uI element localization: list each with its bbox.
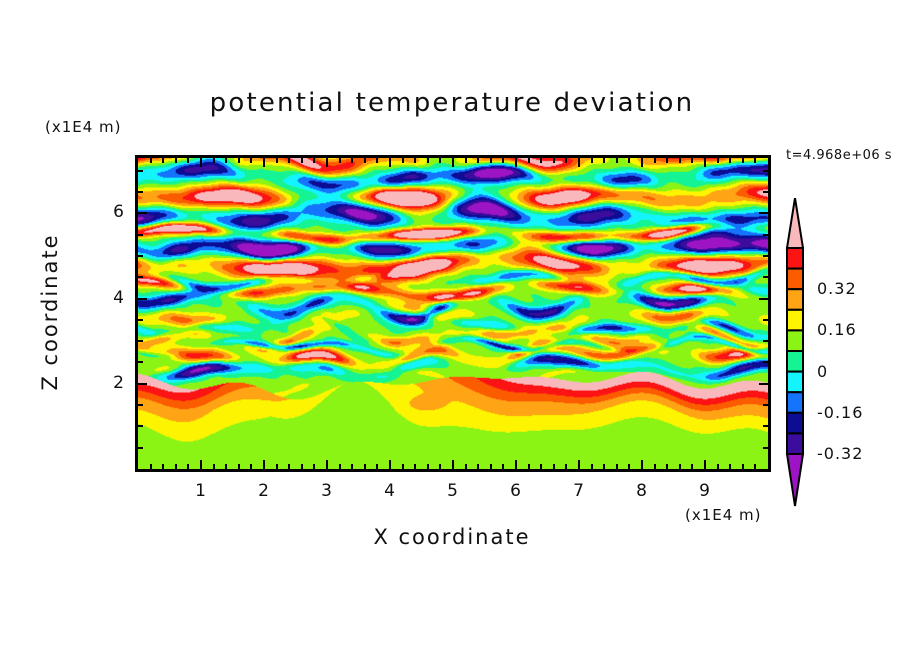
x-axis-tick-label: 6 bbox=[496, 481, 536, 501]
colorbar-band bbox=[787, 413, 803, 434]
x-axis-minor-tick bbox=[666, 464, 668, 469]
x-axis-minor-tick-top bbox=[427, 158, 429, 163]
x-axis-minor-tick-top bbox=[654, 158, 656, 163]
x-axis-major-tick bbox=[200, 460, 202, 469]
x-axis-major-tick-top bbox=[263, 158, 265, 167]
x-axis-minor-tick-top bbox=[490, 158, 492, 163]
y-axis-minor-tick-right bbox=[763, 361, 768, 363]
colorbar-swatches bbox=[775, 198, 815, 508]
x-axis-minor-tick bbox=[691, 464, 693, 469]
x-axis-minor-tick bbox=[742, 464, 744, 469]
x-axis-minor-tick-top bbox=[364, 158, 366, 163]
x-axis-minor-tick bbox=[654, 464, 656, 469]
x-axis-minor-tick-top bbox=[162, 158, 164, 163]
colorbar-tick-label: 0.32 bbox=[817, 279, 857, 298]
x-axis-minor-tick-top bbox=[603, 158, 605, 163]
x-axis-minor-tick-top bbox=[175, 158, 177, 163]
x-axis-minor-tick-top bbox=[754, 158, 756, 163]
y-axis-major-tick-right bbox=[759, 383, 768, 385]
colorbar bbox=[775, 198, 815, 508]
x-axis-minor-tick bbox=[213, 464, 215, 469]
x-axis-minor-tick-top bbox=[540, 158, 542, 163]
time-stamp-label: t=4.968e+06 s bbox=[786, 148, 892, 163]
colorbar-band bbox=[787, 330, 803, 351]
x-axis-minor-tick-top bbox=[717, 158, 719, 163]
x-axis-minor-tick-top bbox=[276, 158, 278, 163]
x-axis-minor-tick bbox=[402, 464, 404, 469]
x-axis-minor-tick-top bbox=[628, 158, 630, 163]
x-axis-major-tick bbox=[326, 460, 328, 469]
x-axis-tick-label: 5 bbox=[433, 481, 473, 501]
x-axis-minor-tick bbox=[376, 464, 378, 469]
colorbar-over-max-arrow bbox=[787, 198, 803, 248]
y-axis-major-tick bbox=[138, 298, 147, 300]
y-axis-minor-tick-right bbox=[763, 255, 768, 257]
y-axis-minor-tick bbox=[138, 361, 143, 363]
x-axis-minor-tick bbox=[603, 464, 605, 469]
x-axis-tick-label: 9 bbox=[685, 481, 725, 501]
x-axis-minor-tick-top bbox=[313, 158, 315, 163]
y-axis-minor-tick bbox=[138, 191, 143, 193]
x-axis-minor-tick bbox=[187, 464, 189, 469]
x-axis-minor-tick bbox=[729, 464, 731, 469]
x-axis-tick-label: 7 bbox=[559, 481, 599, 501]
y-axis-minor-tick-right bbox=[763, 234, 768, 236]
y-axis-minor-tick-right bbox=[763, 340, 768, 342]
x-axis-minor-tick bbox=[565, 464, 567, 469]
contour-plot-area bbox=[135, 155, 771, 472]
x-axis-minor-tick bbox=[250, 464, 252, 469]
x-axis-minor-tick bbox=[225, 464, 227, 469]
x-axis-minor-tick-top bbox=[376, 158, 378, 163]
y-axis-minor-tick bbox=[138, 170, 143, 172]
y-axis-minor-tick-right bbox=[763, 447, 768, 449]
x-axis-minor-tick-top bbox=[150, 158, 152, 163]
x-axis-minor-tick-top bbox=[565, 158, 567, 163]
x-axis-minor-tick bbox=[427, 464, 429, 469]
x-axis-minor-tick-top bbox=[729, 158, 731, 163]
y-axis-minor-tick bbox=[138, 340, 143, 342]
x-axis-minor-tick-top bbox=[477, 158, 479, 163]
x-axis-minor-tick bbox=[591, 464, 593, 469]
colorbar-band bbox=[787, 351, 803, 372]
y-axis-minor-tick bbox=[138, 234, 143, 236]
y-axis-minor-tick-right bbox=[763, 170, 768, 172]
x-axis-minor-tick bbox=[616, 464, 618, 469]
colorbar-band bbox=[787, 372, 803, 393]
x-axis-major-tick bbox=[515, 460, 517, 469]
x-axis-tick-label: 8 bbox=[622, 481, 662, 501]
x-axis-tick-label: 4 bbox=[370, 481, 410, 501]
y-axis-minor-tick bbox=[138, 319, 143, 321]
x-axis-minor-tick-top bbox=[187, 158, 189, 163]
page-title: potential temperature deviation bbox=[0, 88, 904, 118]
x-axis-minor-tick bbox=[628, 464, 630, 469]
y-axis-minor-tick-right bbox=[763, 276, 768, 278]
x-axis-major-tick bbox=[704, 460, 706, 469]
x-axis-minor-tick-top bbox=[691, 158, 693, 163]
x-axis-minor-tick bbox=[754, 464, 756, 469]
x-axis-minor-tick-top bbox=[465, 158, 467, 163]
contour-field-canvas bbox=[138, 158, 768, 469]
colorbar-band bbox=[787, 392, 803, 413]
x-axis-minor-tick bbox=[414, 464, 416, 469]
y-axis-minor-tick-right bbox=[763, 319, 768, 321]
x-axis-minor-tick-top bbox=[288, 158, 290, 163]
colorbar-tick-label: -0.16 bbox=[817, 403, 863, 422]
y-axis-major-tick-right bbox=[759, 212, 768, 214]
x-axis-minor-tick bbox=[540, 464, 542, 469]
x-axis-major-tick bbox=[389, 460, 391, 469]
y-axis-minor-tick-right bbox=[763, 425, 768, 427]
y-axis-minor-tick-right bbox=[763, 404, 768, 406]
x-axis-minor-tick-top bbox=[502, 158, 504, 163]
x-axis-minor-tick bbox=[276, 464, 278, 469]
y-axis-major-tick bbox=[138, 383, 147, 385]
x-axis-minor-tick bbox=[339, 464, 341, 469]
y-axis-tick-label: 4 bbox=[85, 288, 125, 308]
x-axis-minor-tick-top bbox=[351, 158, 353, 163]
colorbar-tick-label: -0.32 bbox=[817, 444, 863, 463]
x-axis-minor-tick bbox=[150, 464, 152, 469]
x-axis-minor-tick bbox=[553, 464, 555, 469]
x-axis-major-tick-top bbox=[326, 158, 328, 167]
x-axis-minor-tick bbox=[288, 464, 290, 469]
colorbar-tick-label: 0 bbox=[817, 362, 828, 381]
x-axis-minor-tick-top bbox=[238, 158, 240, 163]
x-axis-minor-tick-top bbox=[666, 158, 668, 163]
x-axis-minor-tick bbox=[679, 464, 681, 469]
x-axis-minor-tick-top bbox=[528, 158, 530, 163]
x-axis-minor-tick bbox=[502, 464, 504, 469]
z-axis-unit-label: (x1E4 m) bbox=[45, 118, 122, 136]
x-axis-major-tick-top bbox=[641, 158, 643, 167]
y-axis-tick-label: 2 bbox=[85, 373, 125, 393]
y-axis-minor-tick bbox=[138, 447, 143, 449]
colorbar-band bbox=[787, 310, 803, 331]
y-axis-minor-tick bbox=[138, 425, 143, 427]
x-axis-unit-label: (x1E4 m) bbox=[685, 506, 762, 524]
x-axis-major-tick bbox=[578, 460, 580, 469]
x-axis-minor-tick-top bbox=[402, 158, 404, 163]
colorbar-band bbox=[787, 433, 803, 454]
colorbar-under-min-arrow bbox=[787, 454, 803, 506]
x-axis-minor-tick-top bbox=[225, 158, 227, 163]
x-axis-major-tick bbox=[641, 460, 643, 469]
y-axis-tick-label: 6 bbox=[85, 202, 125, 222]
x-axis-minor-tick bbox=[313, 464, 315, 469]
x-axis-minor-tick bbox=[717, 464, 719, 469]
x-axis-tick-label: 1 bbox=[181, 481, 221, 501]
x-axis-minor-tick-top bbox=[553, 158, 555, 163]
colorbar-tick-label: 0.16 bbox=[817, 320, 857, 339]
y-axis-minor-tick bbox=[138, 276, 143, 278]
x-axis-minor-tick bbox=[364, 464, 366, 469]
y-axis-major-tick bbox=[138, 212, 147, 214]
x-axis-tick-label: 3 bbox=[307, 481, 347, 501]
x-axis-minor-tick-top bbox=[591, 158, 593, 163]
x-axis-minor-tick bbox=[238, 464, 240, 469]
x-axis-minor-tick bbox=[175, 464, 177, 469]
x-axis-major-tick bbox=[452, 460, 454, 469]
x-axis-minor-tick-top bbox=[742, 158, 744, 163]
x-axis-minor-tick bbox=[162, 464, 164, 469]
x-axis-minor-tick bbox=[465, 464, 467, 469]
colorbar-band bbox=[787, 289, 803, 310]
x-axis-tick-label: 2 bbox=[244, 481, 284, 501]
x-axis-major-tick-top bbox=[389, 158, 391, 167]
x-axis-major-tick bbox=[263, 460, 265, 469]
x-axis-minor-tick bbox=[439, 464, 441, 469]
x-axis-minor-tick bbox=[490, 464, 492, 469]
y-axis-minor-tick bbox=[138, 255, 143, 257]
x-axis-minor-tick-top bbox=[339, 158, 341, 163]
x-axis-minor-tick-top bbox=[616, 158, 618, 163]
x-axis-major-tick-top bbox=[515, 158, 517, 167]
x-axis-minor-tick-top bbox=[301, 158, 303, 163]
x-axis-major-tick-top bbox=[578, 158, 580, 167]
colorbar-band bbox=[787, 248, 803, 269]
x-axis-minor-tick bbox=[528, 464, 530, 469]
x-axis-minor-tick-top bbox=[439, 158, 441, 163]
y-axis-major-tick-right bbox=[759, 298, 768, 300]
x-axis-title: X coordinate bbox=[0, 525, 904, 549]
y-axis-title: Z coordinate bbox=[38, 202, 62, 422]
x-axis-minor-tick bbox=[477, 464, 479, 469]
x-axis-minor-tick-top bbox=[679, 158, 681, 163]
x-axis-major-tick-top bbox=[452, 158, 454, 167]
x-axis-minor-tick bbox=[301, 464, 303, 469]
y-axis-minor-tick-right bbox=[763, 191, 768, 193]
x-axis-minor-tick-top bbox=[414, 158, 416, 163]
y-axis-minor-tick bbox=[138, 404, 143, 406]
x-axis-major-tick-top bbox=[704, 158, 706, 167]
x-axis-minor-tick bbox=[351, 464, 353, 469]
x-axis-minor-tick-top bbox=[213, 158, 215, 163]
x-axis-major-tick-top bbox=[200, 158, 202, 167]
x-axis-minor-tick-top bbox=[250, 158, 252, 163]
colorbar-band bbox=[787, 269, 803, 290]
